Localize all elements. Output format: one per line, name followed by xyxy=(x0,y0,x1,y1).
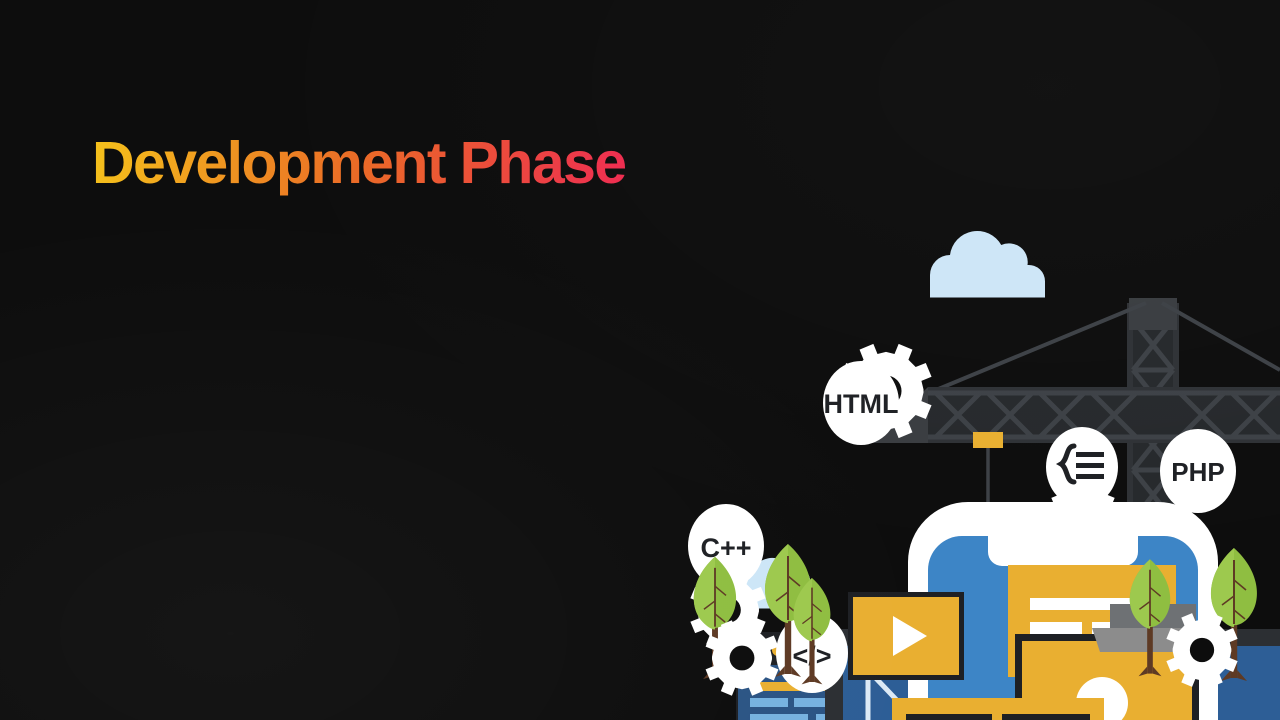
foreground-layer xyxy=(640,180,1280,720)
page-title: Development Phase xyxy=(92,129,626,197)
tree-left-front xyxy=(794,578,831,684)
tree-right-at-crane xyxy=(1130,559,1170,676)
slide-canvas: Development Phase xyxy=(0,0,1280,720)
